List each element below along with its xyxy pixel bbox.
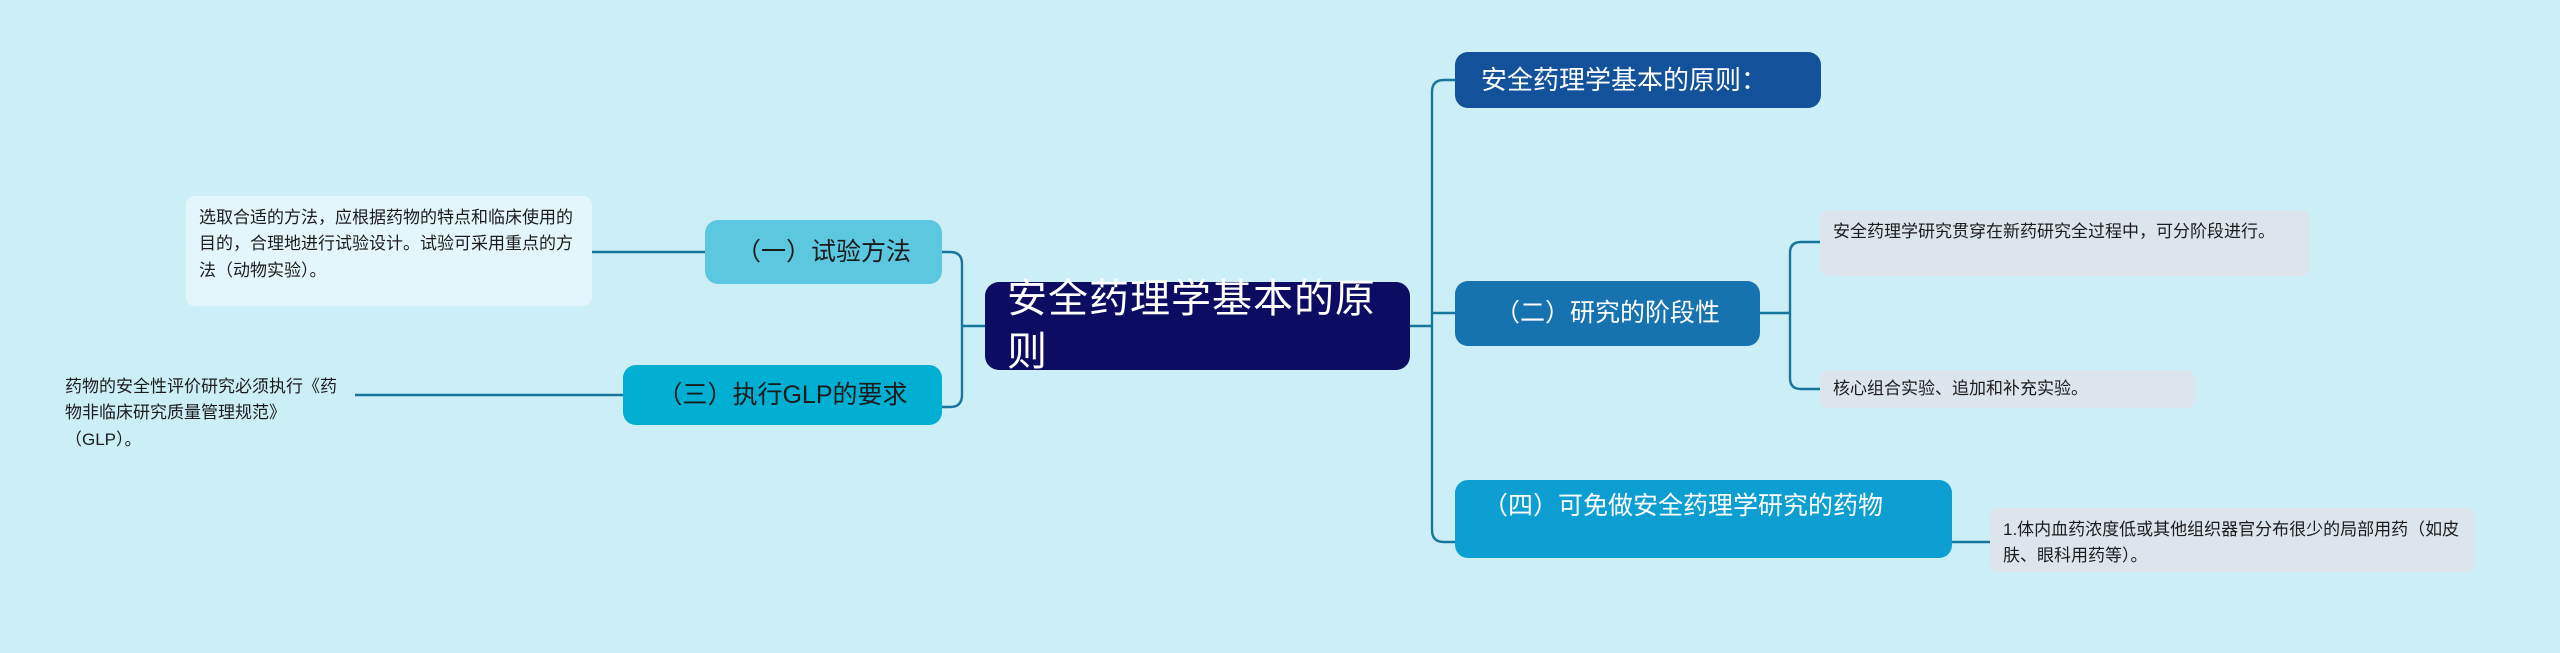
branch-node-yi-label: （一）试验方法 (736, 236, 911, 269)
leaf-node-si-1-text: 1.体内血药浓度低或其他组织器官分布很少的局部用药（如皮肤、眼科用药等）。 (2003, 517, 2462, 570)
leaf-node-san-1-text: 药物的安全性评价研究必须执行《药物非临床研究质量管理规范》（GLP）。 (65, 374, 342, 453)
branch-node-yi[interactable]: （一）试验方法 (705, 220, 942, 284)
central-topic-label: 安全药理学基本的原则 (1007, 273, 1388, 379)
branch-node-si-label: （四）可免做安全药理学研究的药物 (1483, 490, 1883, 523)
branch-node-san-label: （三）执行GLP的要求 (657, 379, 907, 412)
branch-node-san[interactable]: （三）执行GLP的要求 (623, 365, 942, 425)
mindmap-canvas: 安全药理学基本的原则 （一）试验方法 选取合适的方法，应根据药物的特点和临床使用… (0, 0, 2560, 653)
branch-node-si[interactable]: （四）可免做安全药理学研究的药物 (1455, 480, 1952, 558)
branch-node-top-label: 安全药理学基本的原则： (1481, 63, 1767, 97)
leaf-node-yi-1[interactable]: 选取合适的方法，应根据药物的特点和临床使用的目的，合理地进行试验设计。试验可采用… (186, 196, 592, 306)
branch-node-er-label: （二）研究的阶段性 (1495, 297, 1720, 330)
branch-node-top[interactable]: 安全药理学基本的原则： (1455, 52, 1821, 108)
leaf-node-er-1-text: 安全药理学研究贯穿在新药研究全过程中，可分阶段进行。 (1833, 219, 2275, 245)
leaf-node-er-1[interactable]: 安全药理学研究贯穿在新药研究全过程中，可分阶段进行。 (1820, 210, 2310, 276)
leaf-node-er-2-text: 核心组合实验、追加和补充实验。 (1833, 376, 2088, 402)
leaf-node-si-1[interactable]: 1.体内血药浓度低或其他组织器官分布很少的局部用药（如皮肤、眼科用药等）。 (1990, 508, 2475, 572)
leaf-node-yi-1-text: 选取合适的方法，应根据药物的特点和临床使用的目的，合理地进行试验设计。试验可采用… (199, 205, 579, 284)
leaf-node-er-2[interactable]: 核心组合实验、追加和补充实验。 (1820, 370, 2195, 408)
central-topic-node[interactable]: 安全药理学基本的原则 (985, 282, 1410, 370)
leaf-node-san-1[interactable]: 药物的安全性评价研究必须执行《药物非临床研究质量管理规范》（GLP）。 (52, 365, 355, 427)
branch-node-er[interactable]: （二）研究的阶段性 (1455, 281, 1760, 346)
